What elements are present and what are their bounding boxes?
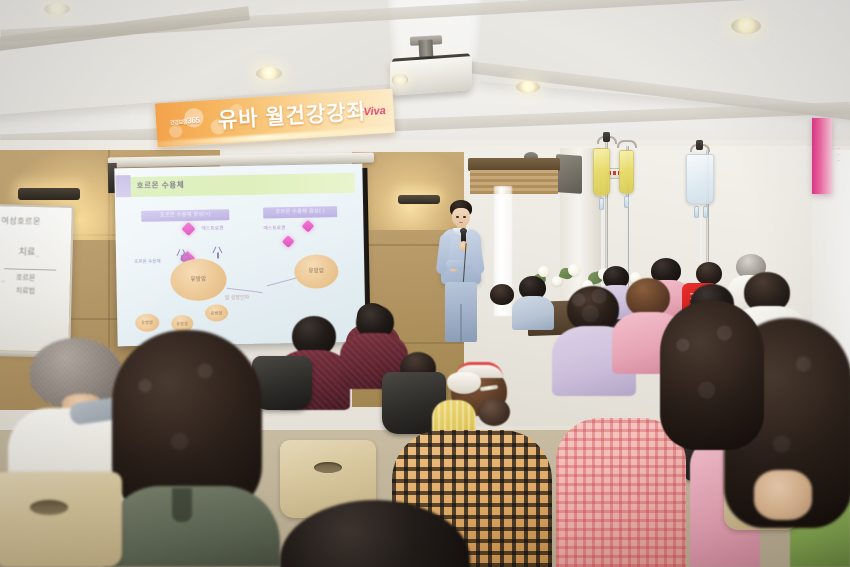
banner-brand-365: 365	[187, 116, 200, 126]
cancer-cell-main: 유방암	[170, 258, 227, 301]
cancer-cell-label: 유방암	[205, 304, 228, 321]
iv-drip-chamber	[624, 196, 629, 208]
estrogen-diamond-icon	[282, 235, 295, 248]
window-blind	[470, 170, 558, 194]
receptor-icon	[212, 246, 224, 258]
slide-title: 호르몬 수용체	[137, 179, 185, 191]
visor-brim	[447, 372, 481, 394]
cancer-cell-small: 유방암	[135, 314, 159, 332]
iv-drip-chamber	[599, 198, 604, 210]
estrogen-diamond-icon	[181, 222, 195, 236]
banner-viva-logo: Viva	[363, 105, 386, 118]
cancer-cell-small: 유방암	[205, 304, 228, 321]
cancer-cell-right: 유방암	[294, 254, 339, 289]
banner-brand-small: 건강보험	[170, 120, 188, 127]
whiteboard-text: →	[34, 253, 39, 259]
iv-stand-knob	[603, 132, 610, 142]
flow-arrow	[267, 277, 298, 286]
whiteboard-rule	[4, 268, 56, 270]
downlight-icon	[44, 3, 70, 15]
presenter-eye	[456, 216, 459, 218]
whiteboard-text: →	[0, 278, 6, 284]
slide-box-negative-label: 호르몬 수용체 음성(-)	[263, 206, 337, 218]
presenter	[437, 200, 483, 345]
downlight-icon	[516, 81, 540, 93]
cancer-cell-label: 유방암	[294, 254, 339, 289]
projection-screen: 호르몬 수용체 호르몬 수용체 양성(+) 호르몬 수용체 음성(-) 에스트로…	[114, 164, 365, 347]
cancer-cell-label: 유방암	[135, 314, 159, 332]
pink-wall-banner	[812, 118, 832, 194]
attendee-head	[490, 284, 514, 305]
iv-stand-knob	[696, 140, 703, 150]
chair-handle-hole	[314, 462, 342, 473]
attendee-body-olive	[104, 486, 280, 567]
presenter-eye	[463, 216, 466, 218]
whiteboard-text: 치료	[19, 245, 36, 258]
whiteboard-text: 여성호르몬	[1, 215, 41, 227]
downlight-icon	[256, 67, 282, 80]
pants-seam	[460, 304, 462, 344]
presenter-forearm	[446, 260, 472, 269]
slide-title-accent	[115, 175, 130, 197]
iv-bag-yellow	[593, 148, 610, 196]
chair-handle-hole	[30, 500, 68, 515]
whiteboard-text: 치료법	[16, 286, 36, 296]
wall-sconce-light	[398, 195, 440, 204]
slide-box-negative: 호르몬 수용체 음성(-)	[263, 206, 337, 218]
slide-box-positive-label: 호르몬 수용체 양성(+)	[141, 209, 229, 222]
chair-beige-foreground	[0, 472, 122, 567]
attendee-head	[696, 262, 722, 285]
attendee-neck	[754, 470, 812, 520]
shirt-placket	[172, 488, 192, 522]
estrogen-label-left: 에스트로겐	[201, 225, 223, 231]
attendee-body	[512, 296, 554, 330]
banner-brand-mark: 건강보험365	[170, 116, 200, 127]
iv-bag-saline	[686, 154, 714, 204]
iv-bag-yellow	[619, 150, 634, 194]
iv-drip-chamber	[703, 206, 708, 218]
whiteboard: 여성호르몬 치료 → → 호르몬 치료법	[0, 204, 74, 354]
attendee-head-curly-right	[660, 300, 764, 450]
wall-sconce-light	[18, 188, 80, 200]
whiteboard-text: 호르몬	[16, 273, 36, 283]
growth-factor-label: 암 성장인자	[225, 294, 250, 301]
presenter-mouth	[459, 222, 463, 223]
cancer-cell-label: 유방암	[170, 258, 227, 301]
attendee-body-pink-plaid	[556, 418, 686, 567]
estrogen-diamond-icon	[302, 220, 315, 233]
pink-banner-text: ···	[838, 146, 840, 164]
slide-box-positive: 호르몬 수용체 양성(+)	[141, 209, 229, 222]
lecture-hall-photo: ··· 건강보험365 유바 월건강강좌 Viva 호르몬 수용체 호르몬 수용…	[0, 0, 850, 567]
flow-arrow	[227, 288, 263, 293]
receptor-label: 호르몬 수용체	[134, 259, 161, 266]
estrogen-label-right: 에스트로겐	[263, 225, 285, 231]
downlight-icon	[731, 18, 761, 34]
iv-drip-chamber	[694, 206, 699, 218]
hair-bun	[478, 398, 510, 426]
